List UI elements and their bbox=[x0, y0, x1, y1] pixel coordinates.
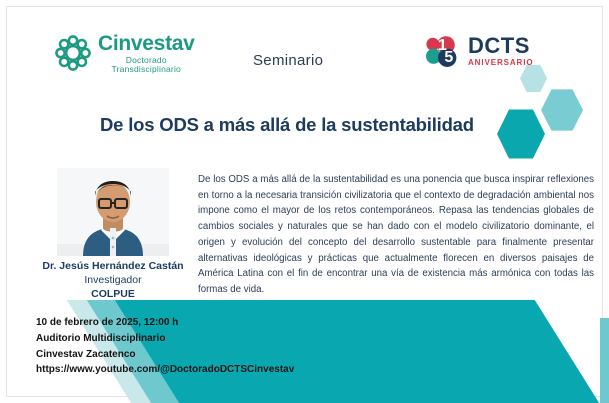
cinvestav-wordmark: Cinvestav bbox=[98, 33, 195, 54]
cinvestav-program-line2: Transdisciplinario bbox=[98, 65, 195, 74]
event-venue: Auditorio Multidisciplinario bbox=[36, 331, 294, 347]
speaker-info: Dr. Jesús Hernández Castán Investigador … bbox=[12, 260, 214, 302]
cinvestav-flower-icon bbox=[55, 35, 91, 71]
speaker-name: Dr. Jesús Hernández Castán bbox=[12, 260, 214, 274]
event-datetime: 10 de febrero de 2025, 12:00 h bbox=[36, 315, 294, 331]
seminar-kicker: Seminario bbox=[253, 52, 323, 69]
hexagon-large-icon bbox=[497, 108, 545, 160]
dcts-anniversary-label: ANIVERSARIO bbox=[468, 59, 533, 67]
speaker-role: Investigador bbox=[12, 274, 214, 288]
event-campus: Cinvestav Zacatenco bbox=[36, 347, 294, 363]
right-edge-accent-bar bbox=[600, 318, 609, 403]
event-details: 10 de febrero de 2025, 12:00 h Auditorio… bbox=[36, 315, 294, 378]
dcts-anniversary-icon: 1 5 bbox=[424, 33, 464, 69]
dcts-logo: 1 5 DCTS ANIVERSARIO bbox=[424, 33, 533, 69]
event-stream-url[interactable]: https://www.youtube.com/@DoctoradoDCTSCi… bbox=[36, 362, 294, 378]
svg-text:5: 5 bbox=[444, 49, 453, 66]
speaker-organization: COLPUE bbox=[12, 288, 214, 302]
seminar-poster: Cinvestav Doctorado Transdisciplinario S… bbox=[0, 0, 609, 403]
speaker-photo bbox=[57, 168, 169, 256]
poster-title: De los ODS a más allá de la sustentabili… bbox=[100, 114, 474, 136]
hexagon-medium-icon bbox=[541, 88, 583, 132]
dcts-wordmark: DCTS bbox=[468, 35, 533, 57]
cinvestav-logo: Cinvestav Doctorado Transdisciplinario bbox=[55, 33, 195, 73]
abstract-paragraph: De los ODS a más allá de la sustentabili… bbox=[198, 172, 594, 298]
